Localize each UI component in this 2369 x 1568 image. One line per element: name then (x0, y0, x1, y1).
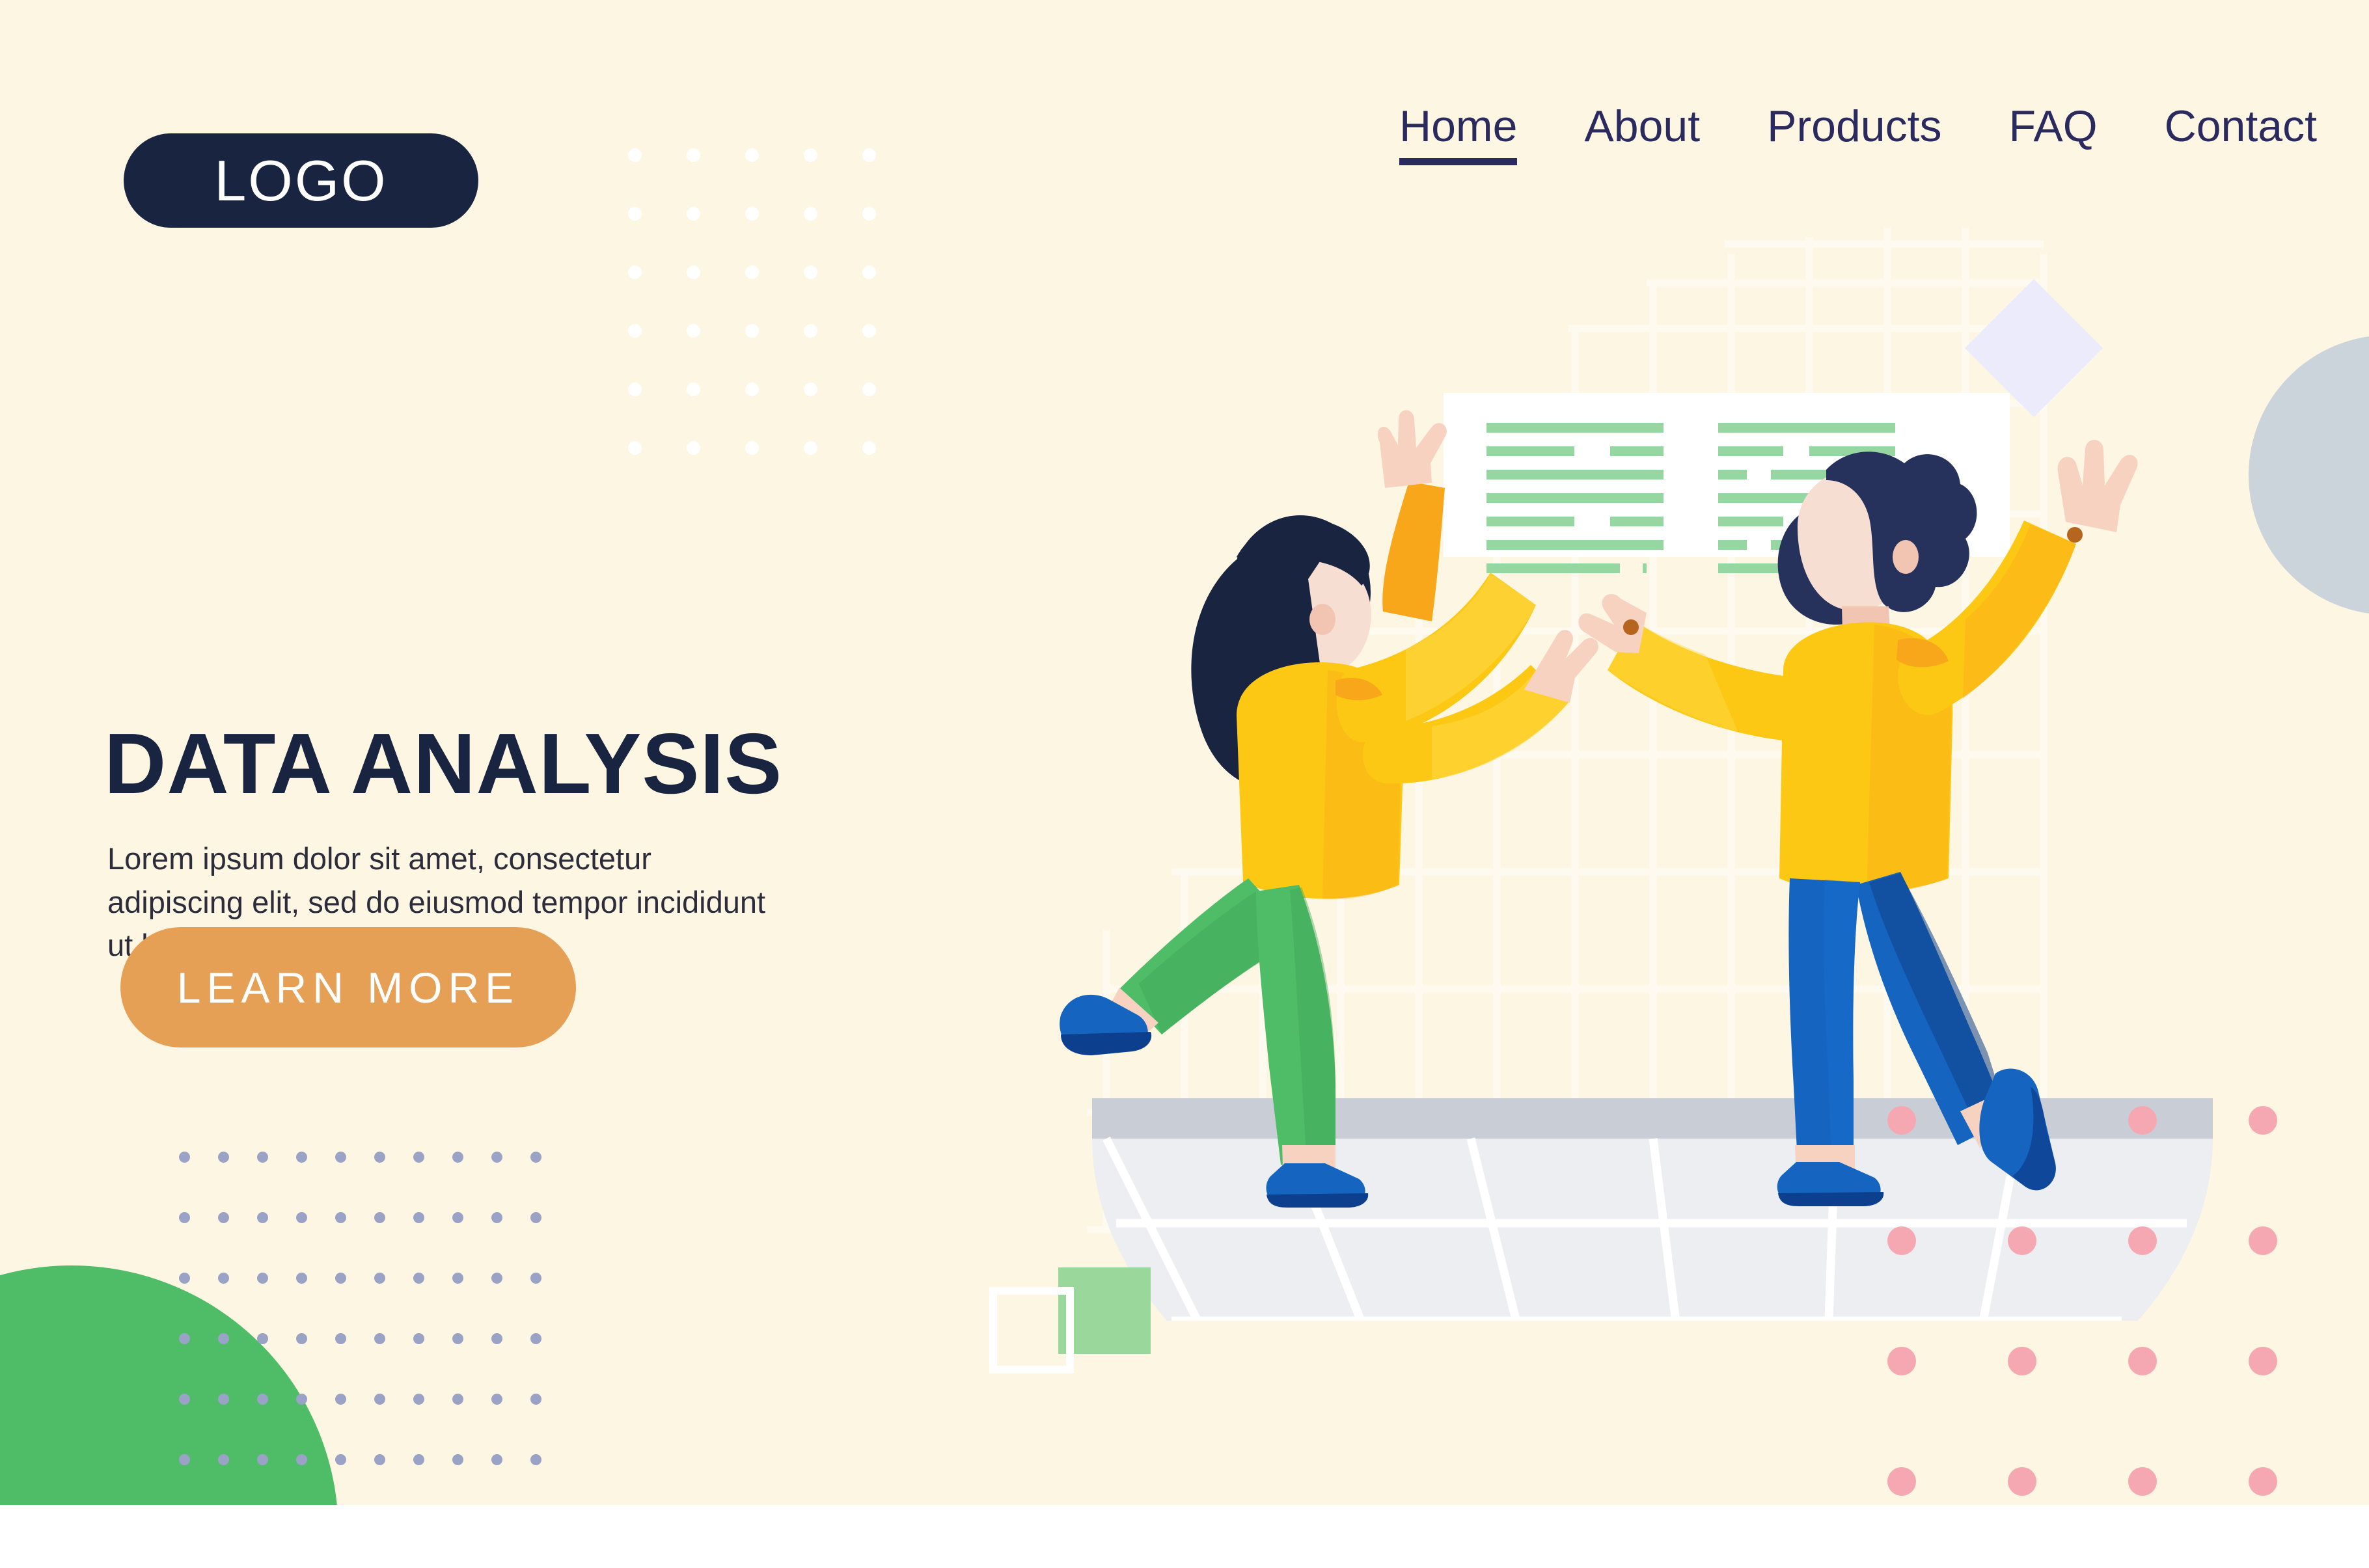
grid-dot (179, 1273, 190, 1284)
grid-dot (491, 1454, 502, 1465)
grid-dot (745, 265, 759, 279)
grid-dot (628, 441, 642, 455)
grid-dot (745, 441, 759, 455)
nav-item-about[interactable]: About (1584, 104, 1700, 165)
grid-dot (179, 1212, 190, 1223)
grid-dot (374, 1394, 385, 1405)
grid-dot (296, 1273, 307, 1284)
data-board (1444, 393, 2010, 557)
nav-item-faq[interactable]: FAQ (2009, 104, 2098, 165)
nav-item-contact[interactable]: Contact (2165, 104, 2317, 165)
board-row (1718, 540, 1895, 550)
grid-dot (413, 1273, 424, 1284)
grid-dot (2249, 1347, 2277, 1375)
grid-dot (257, 1333, 268, 1344)
grid-dot (491, 1273, 502, 1284)
grid-dot (413, 1454, 424, 1465)
grid-dot (296, 1152, 307, 1163)
grid-dot (491, 1212, 502, 1223)
board-row (1486, 446, 1664, 456)
grid-dot (2128, 1106, 2157, 1135)
grid-dot (530, 1394, 541, 1405)
grid-dot (862, 383, 876, 396)
grid-dot (687, 265, 700, 279)
grid-dot (862, 207, 876, 221)
grid-dot (745, 207, 759, 221)
grid-dot (2128, 1467, 2157, 1496)
background-grid (1087, 228, 2044, 1230)
grid-dot (1887, 1467, 1916, 1496)
board-row (1718, 423, 1895, 433)
grid-dot (491, 1152, 502, 1163)
grid-dot (374, 1454, 385, 1465)
grid-dot (296, 1333, 307, 1344)
grid-dot (179, 1152, 190, 1163)
grid-dot (452, 1394, 463, 1405)
main-navigation: Home About Products FAQ Contact (1399, 104, 2317, 165)
grid-dot (218, 1394, 229, 1405)
grid-dot (452, 1152, 463, 1163)
grid-dot (257, 1394, 268, 1405)
board-row (1486, 563, 1664, 573)
grid-dot (452, 1212, 463, 1223)
grid-dot (374, 1152, 385, 1163)
grid-dot (257, 1152, 268, 1163)
grid-dot (257, 1273, 268, 1284)
grid-dot (491, 1333, 502, 1344)
pink-dot-grid (1887, 1106, 2369, 1505)
grid-dot (745, 383, 759, 396)
white-outline-square-shape (989, 1287, 1074, 1373)
grid-dot (862, 148, 876, 162)
logo-label: LOGO (214, 152, 387, 210)
grid-dot (687, 207, 700, 221)
grid-dot (218, 1454, 229, 1465)
grid-dot (687, 148, 700, 162)
board-row (1486, 540, 1664, 550)
grid-dot (335, 1454, 346, 1465)
grid-dot (335, 1212, 346, 1223)
grid-dot (1887, 1347, 1916, 1375)
grid-dot (452, 1273, 463, 1284)
grid-dot (374, 1212, 385, 1223)
grid-dot (2128, 1347, 2157, 1375)
grid-dot (296, 1454, 307, 1465)
grid-dot (179, 1333, 190, 1344)
grid-dot (413, 1394, 424, 1405)
page-title: DATA ANALYSIS (104, 721, 782, 807)
grid-dot (2008, 1347, 2036, 1375)
hero-background: LOGO Home About Products FAQ Contact DAT… (0, 0, 2369, 1505)
white-dot-grid (628, 148, 914, 493)
grid-dot (804, 441, 817, 455)
grid-dot (491, 1394, 502, 1405)
grid-dot (374, 1333, 385, 1344)
grid-dot (257, 1454, 268, 1465)
grid-dot (628, 324, 642, 338)
grid-dot (257, 1212, 268, 1223)
nav-item-home[interactable]: Home (1399, 104, 1517, 165)
grid-dot (179, 1394, 190, 1405)
grid-dot (862, 441, 876, 455)
grid-dot (413, 1152, 424, 1163)
grid-dot (804, 265, 817, 279)
grid-dot (1887, 1106, 1916, 1135)
grid-dot (530, 1454, 541, 1465)
grid-dot (628, 383, 642, 396)
board-row (1718, 470, 1895, 480)
grid-dot (530, 1212, 541, 1223)
grid-dot (2008, 1106, 2036, 1135)
grid-dot (804, 148, 817, 162)
board-row (1486, 423, 1664, 433)
bottom-white-strip (0, 1505, 2369, 1568)
grid-dot (628, 265, 642, 279)
nav-item-products[interactable]: Products (1767, 104, 1941, 165)
grid-dot (452, 1454, 463, 1465)
grid-dot (413, 1212, 424, 1223)
grid-dot (218, 1152, 229, 1163)
grid-dot (296, 1212, 307, 1223)
board-column-right (1718, 423, 1895, 527)
grid-dot (2249, 1226, 2277, 1255)
grid-dot (179, 1454, 190, 1465)
grid-dot (628, 148, 642, 162)
grid-dot (374, 1273, 385, 1284)
grid-dot (804, 207, 817, 221)
landing-page-root: LOGO Home About Products FAQ Contact DAT… (0, 0, 2369, 1568)
grid-dot (335, 1333, 346, 1344)
grid-dot (530, 1333, 541, 1344)
grid-dot (2128, 1226, 2157, 1255)
board-row (1486, 517, 1664, 526)
grid-dot (1887, 1226, 1916, 1255)
grid-dot (804, 383, 817, 396)
grid-dot (628, 207, 642, 221)
grid-dot (862, 324, 876, 338)
grid-dot (530, 1152, 541, 1163)
grid-dot (296, 1394, 307, 1405)
grid-dot (804, 324, 817, 338)
board-row (1718, 563, 1895, 573)
grid-dot (335, 1394, 346, 1405)
learn-more-button[interactable]: LEARN MORE (120, 927, 576, 1048)
board-row (1486, 493, 1664, 503)
grid-dot (745, 148, 759, 162)
grid-dot (745, 324, 759, 338)
grid-dot (530, 1273, 541, 1284)
board-row (1718, 446, 1895, 456)
grid-dot (218, 1212, 229, 1223)
learn-more-label: LEARN MORE (177, 966, 519, 1009)
gray-dot-grid (179, 1152, 569, 1493)
grid-dot (218, 1333, 229, 1344)
grid-dot (452, 1333, 463, 1344)
board-row (1718, 493, 1895, 503)
grid-dot (2008, 1467, 2036, 1496)
grid-dot (2249, 1106, 2277, 1135)
grid-dot (335, 1273, 346, 1284)
grid-dot (2249, 1467, 2277, 1496)
board-row (1486, 470, 1664, 480)
grid-dot (862, 265, 876, 279)
grid-dot (413, 1333, 424, 1344)
grid-dot (687, 324, 700, 338)
grid-dot (687, 441, 700, 455)
grid-dot (335, 1152, 346, 1163)
grid-dot (687, 383, 700, 396)
grid-dot (2008, 1226, 2036, 1255)
board-column-left (1486, 423, 1664, 527)
logo[interactable]: LOGO (124, 133, 478, 228)
board-row (1718, 517, 1895, 526)
grid-dot (218, 1273, 229, 1284)
